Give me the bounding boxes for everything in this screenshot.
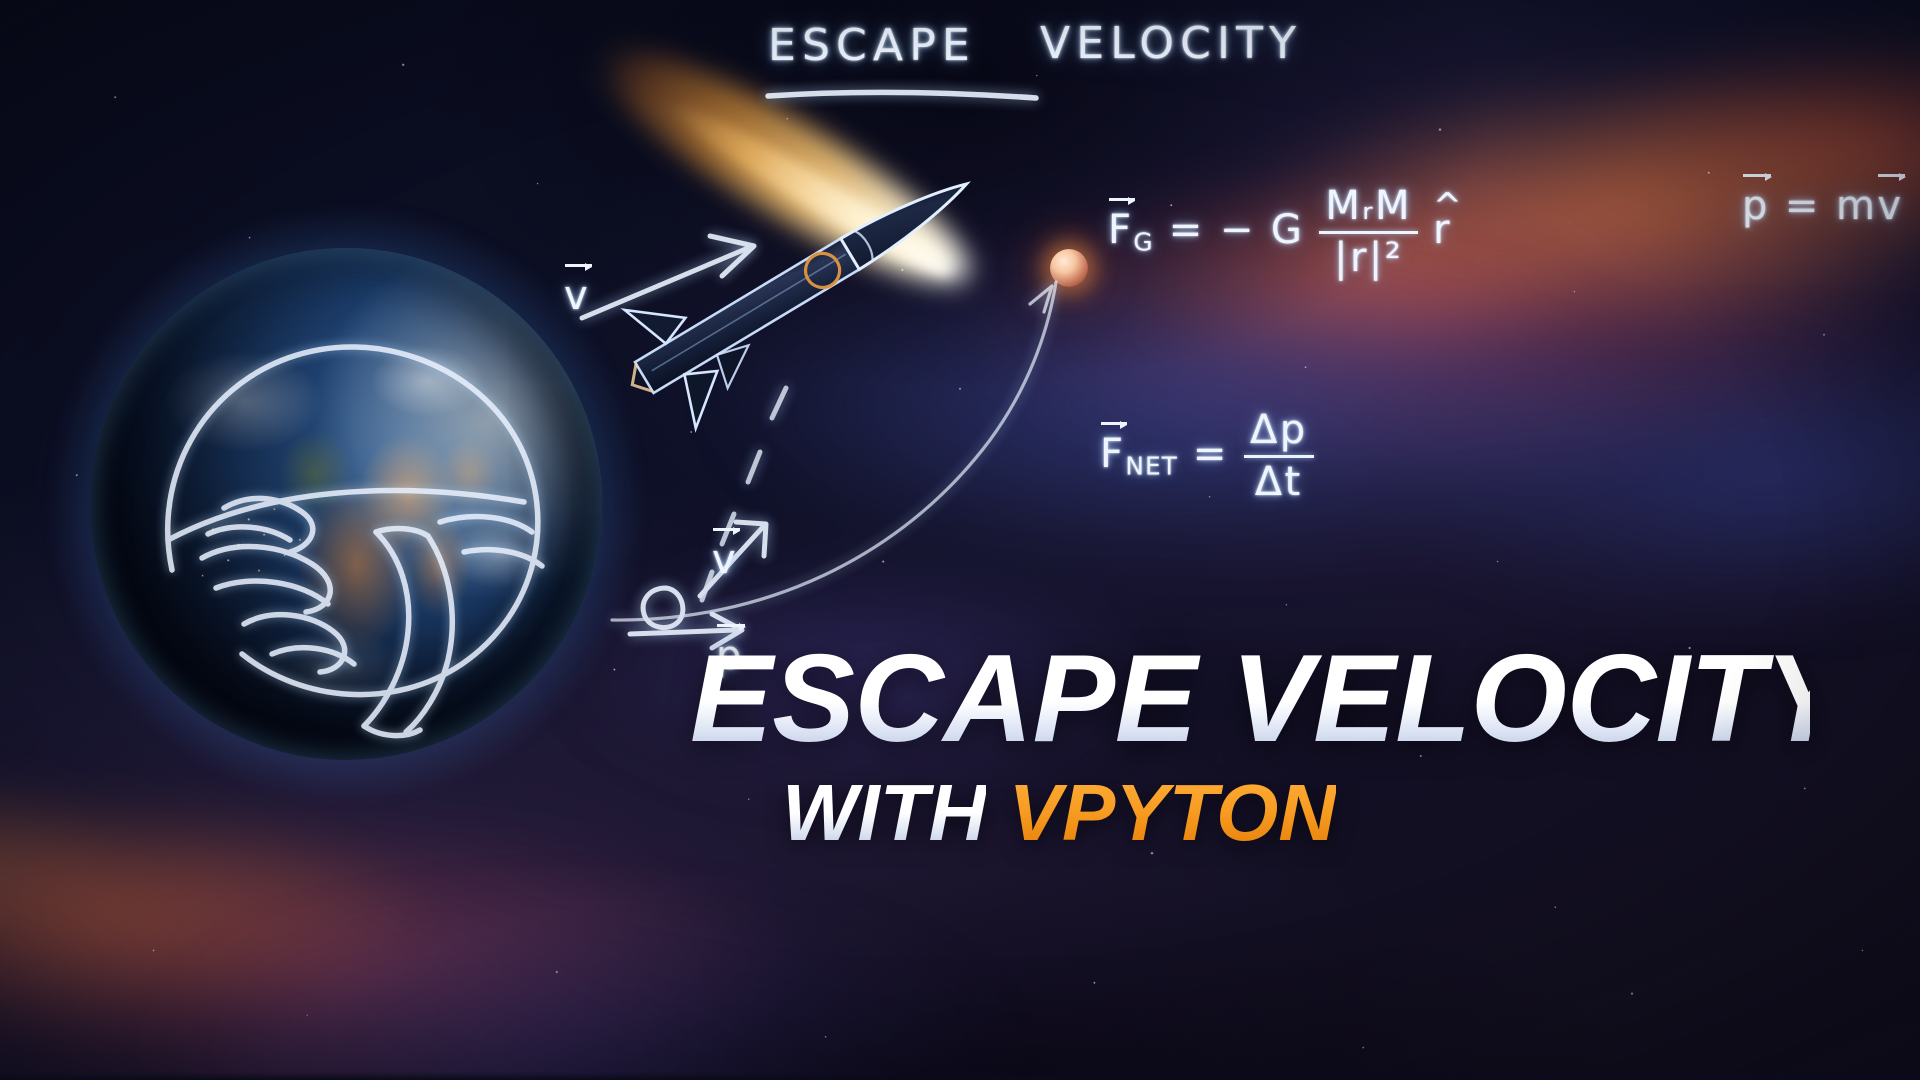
subtitle-line: WITH VPYTON xyxy=(782,773,1810,853)
subtitle-brand: VPYTON xyxy=(1009,768,1337,857)
rocket-assembly xyxy=(560,110,1020,470)
subtitle-prefix: WITH xyxy=(782,768,986,857)
bottom-edge-fade xyxy=(0,1072,1920,1080)
orbiting-body xyxy=(1050,249,1088,287)
earth-globe xyxy=(90,248,602,760)
main-title: ESCAPE VELOCITY xyxy=(690,640,1810,759)
rocket-body xyxy=(560,110,1020,470)
earth-limb-rim xyxy=(90,248,602,760)
thumbnail-canvas: ESCAPE VELOCITY FG = − G MᵣM |r|² r FNET… xyxy=(0,0,1920,1080)
title-block: ESCAPE VELOCITY WITH VPYTON xyxy=(690,640,1810,853)
